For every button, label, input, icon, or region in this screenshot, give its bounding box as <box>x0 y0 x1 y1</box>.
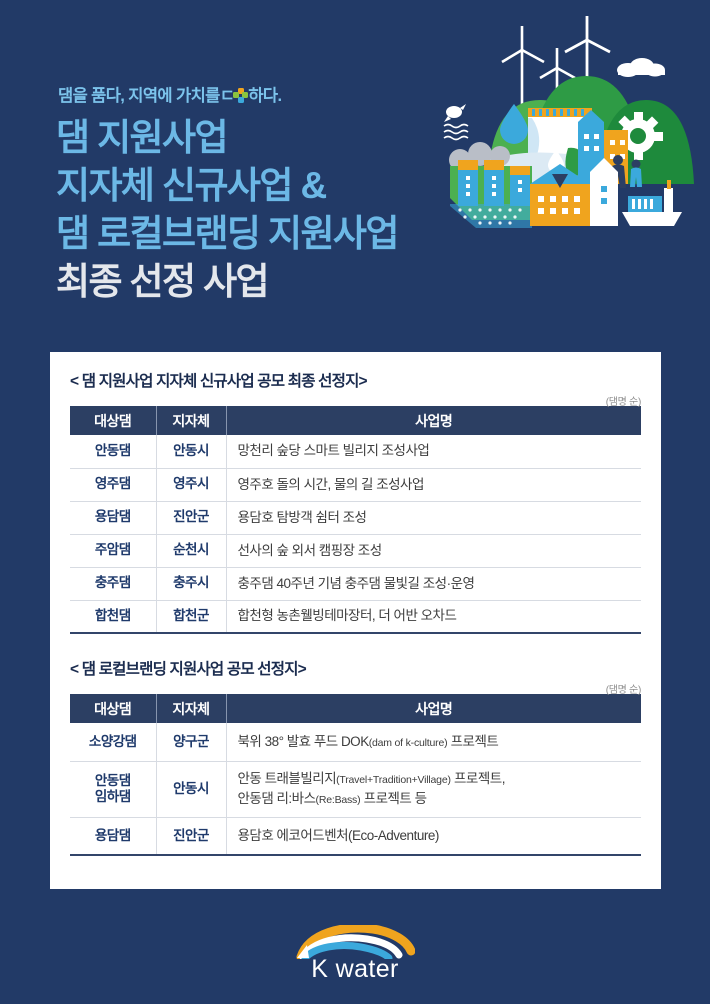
section1-title: < 댐 지원사업 지자체 신규사업 공모 최종 선정지> <box>70 372 641 392</box>
project-line1-en: (Travel+Tradition+Village) <box>336 774 451 786</box>
table-local-branding: 대상댐 지자체 사업명 소양강댐 양구군 북위 38° 발효 푸드 DOK(da… <box>70 694 641 856</box>
cell-project: 합천형 농촌웰빙테마장터, 더 어반 오차드 <box>226 600 641 633</box>
column-header-gov: 지자체 <box>156 694 226 723</box>
table-row: 주암댐 순천시 선사의 숲 외서 캠핑장 조성 <box>70 534 641 567</box>
tagline-after: 하다. <box>248 82 281 106</box>
water-pattern <box>450 204 532 228</box>
cell-dam-line2: 임하댐 <box>95 789 131 804</box>
cell-dam: 주암댐 <box>70 534 156 567</box>
cell-gov: 순천시 <box>156 534 226 567</box>
project-line2-en: (Re:Bass) <box>316 794 361 806</box>
cell-gov: 안동시 <box>156 435 226 468</box>
headline-line-2: 지자체 신규사업 & <box>56 162 398 210</box>
column-header-project: 사업명 <box>226 694 641 723</box>
table-row: 용담댐 진안군 용담호 에코어드벤처(Eco-Adventure) <box>70 817 641 855</box>
cell-dam: 합천댐 <box>70 600 156 633</box>
cell-dam-line1: 안동댐 <box>95 773 131 788</box>
table-header-row: 대상댐 지자체 사업명 <box>70 406 641 435</box>
cell-dam: 용담댐 <box>70 817 156 855</box>
table-new-projects: 대상댐 지자체 사업명 안동댐 안동시 망천리 숲당 스마트 빌리지 조성사업 … <box>70 406 641 634</box>
cell-dam: 안동댐임하댐 <box>70 761 156 817</box>
column-header-dam: 대상댐 <box>70 694 156 723</box>
section2-note: (댐명 순) <box>606 681 641 696</box>
table-row: 용담댐 진안군 용담호 탐방객 쉼터 조성 <box>70 501 641 534</box>
cell-project: 용담호 탐방객 쉼터 조성 <box>226 501 641 534</box>
project-text-main: 북위 38° 발효 푸드 DOK <box>238 734 369 749</box>
cell-gov: 충주시 <box>156 567 226 600</box>
headline-line-1: 댐 지원사업 <box>56 114 398 162</box>
page-title: 댐 지원사업 지자체 신규사업 & 댐 로컬브랜딩 지원사업 최종 선정 사업 <box>56 114 398 306</box>
kwater-logo-text: K water <box>311 955 399 984</box>
headline-line-4: 최종 선정 사업 <box>56 258 398 306</box>
cell-project: 충주댐 40주년 기념 충주댐 물빛길 조성·운영 <box>226 567 641 600</box>
project-line1-suffix: 프로젝트, <box>451 771 505 786</box>
cell-project: 영주호 돌의 시간, 물의 길 조성사업 <box>226 468 641 501</box>
project-line2-suffix: 프로젝트 등 <box>360 791 426 806</box>
cell-project: 용담호 에코어드벤처(Eco-Adventure) <box>226 817 641 855</box>
cell-dam: 안동댐 <box>70 435 156 468</box>
tagline-before: 댐을 품다, 지역에 가치를 <box>58 82 220 106</box>
content-card: < 댐 지원사업 지자체 신규사업 공모 최종 선정지> (댐명 순) 대상댐 … <box>50 352 661 889</box>
pinwheel-icon <box>233 88 248 103</box>
table-row: 합천댐 합천군 합천형 농촌웰빙테마장터, 더 어반 오차드 <box>70 600 641 633</box>
cell-gov: 양구군 <box>156 723 226 761</box>
section2-title: < 댐 로컬브랜딩 지원사업 공모 선정지> <box>70 660 641 680</box>
cell-dam: 소양강댐 <box>70 723 156 761</box>
bird-icon <box>444 104 466 122</box>
table-row: 충주댐 충주시 충주댐 40주년 기념 충주댐 물빛길 조성·운영 <box>70 567 641 600</box>
section1-note: (댐명 순) <box>606 393 641 408</box>
cell-project: 망천리 숲당 스마트 빌리지 조성사업 <box>226 435 641 468</box>
project-text-en: (dam of k-culture) <box>369 737 448 749</box>
cell-gov: 영주시 <box>156 468 226 501</box>
cell-project: 북위 38° 발효 푸드 DOK(dam of k-culture) 프로젝트 <box>226 723 641 761</box>
eco-village-dam-illustration <box>432 8 704 236</box>
cell-project: 안동 트래블빌리지(Travel+Tradition+Village) 프로젝트… <box>226 761 641 817</box>
headline-line-3: 댐 로컬브랜딩 지원사업 <box>56 210 398 258</box>
poster-root: 댐을 품다, 지역에 가치를 ㄷ하다. 댐 지원사업 지자체 신규사업 & 댐 … <box>0 0 710 1004</box>
cell-project: 선사의 숲 외서 캠핑장 조성 <box>226 534 641 567</box>
section1-header: < 댐 지원사업 지자체 신규사업 공모 최종 선정지> (댐명 순) <box>70 372 641 406</box>
table-row: 영주댐 영주시 영주호 돌의 시간, 물의 길 조성사업 <box>70 468 641 501</box>
column-header-dam: 대상댐 <box>70 406 156 435</box>
project-line1-main: 안동 트래블빌리지 <box>238 771 337 786</box>
table-row: 안동댐임하댐 안동시 안동 트래블빌리지(Travel+Tradition+Vi… <box>70 761 641 817</box>
cell-gov: 진안군 <box>156 501 226 534</box>
section2-header: < 댐 로컬브랜딩 지원사업 공모 선정지> (댐명 순) <box>70 660 641 694</box>
table-row: 소양강댐 양구군 북위 38° 발효 푸드 DOK(dam of k-cultu… <box>70 723 641 761</box>
cell-gov: 합천군 <box>156 600 226 633</box>
project-text-suffix: 프로젝트 <box>447 734 498 749</box>
kwater-arc-icon <box>295 925 415 959</box>
table-header-row: 대상댐 지자체 사업명 <box>70 694 641 723</box>
section-new-projects: < 댐 지원사업 지자체 신규사업 공모 최종 선정지> (댐명 순) 대상댐 … <box>70 372 641 634</box>
column-header-gov: 지자체 <box>156 406 226 435</box>
cell-gov: 안동시 <box>156 761 226 817</box>
cell-dam: 충주댐 <box>70 567 156 600</box>
cell-gov: 진안군 <box>156 817 226 855</box>
section-local-branding: < 댐 로컬브랜딩 지원사업 공모 선정지> (댐명 순) 대상댐 지자체 사업… <box>70 660 641 856</box>
project-line2-main: 안동댐 리:바스 <box>238 791 316 806</box>
tagline-da-consonant: ㄷ <box>220 82 235 106</box>
column-header-project: 사업명 <box>226 406 641 435</box>
cell-dam: 용담댐 <box>70 501 156 534</box>
wave-lines <box>444 125 468 140</box>
cloud-icon <box>617 58 665 77</box>
kwater-logo: K water <box>0 925 710 984</box>
table-row: 안동댐 안동시 망천리 숲당 스마트 빌리지 조성사업 <box>70 435 641 468</box>
cell-dam: 영주댐 <box>70 468 156 501</box>
tagline: 댐을 품다, 지역에 가치를 ㄷ하다. <box>58 82 282 106</box>
